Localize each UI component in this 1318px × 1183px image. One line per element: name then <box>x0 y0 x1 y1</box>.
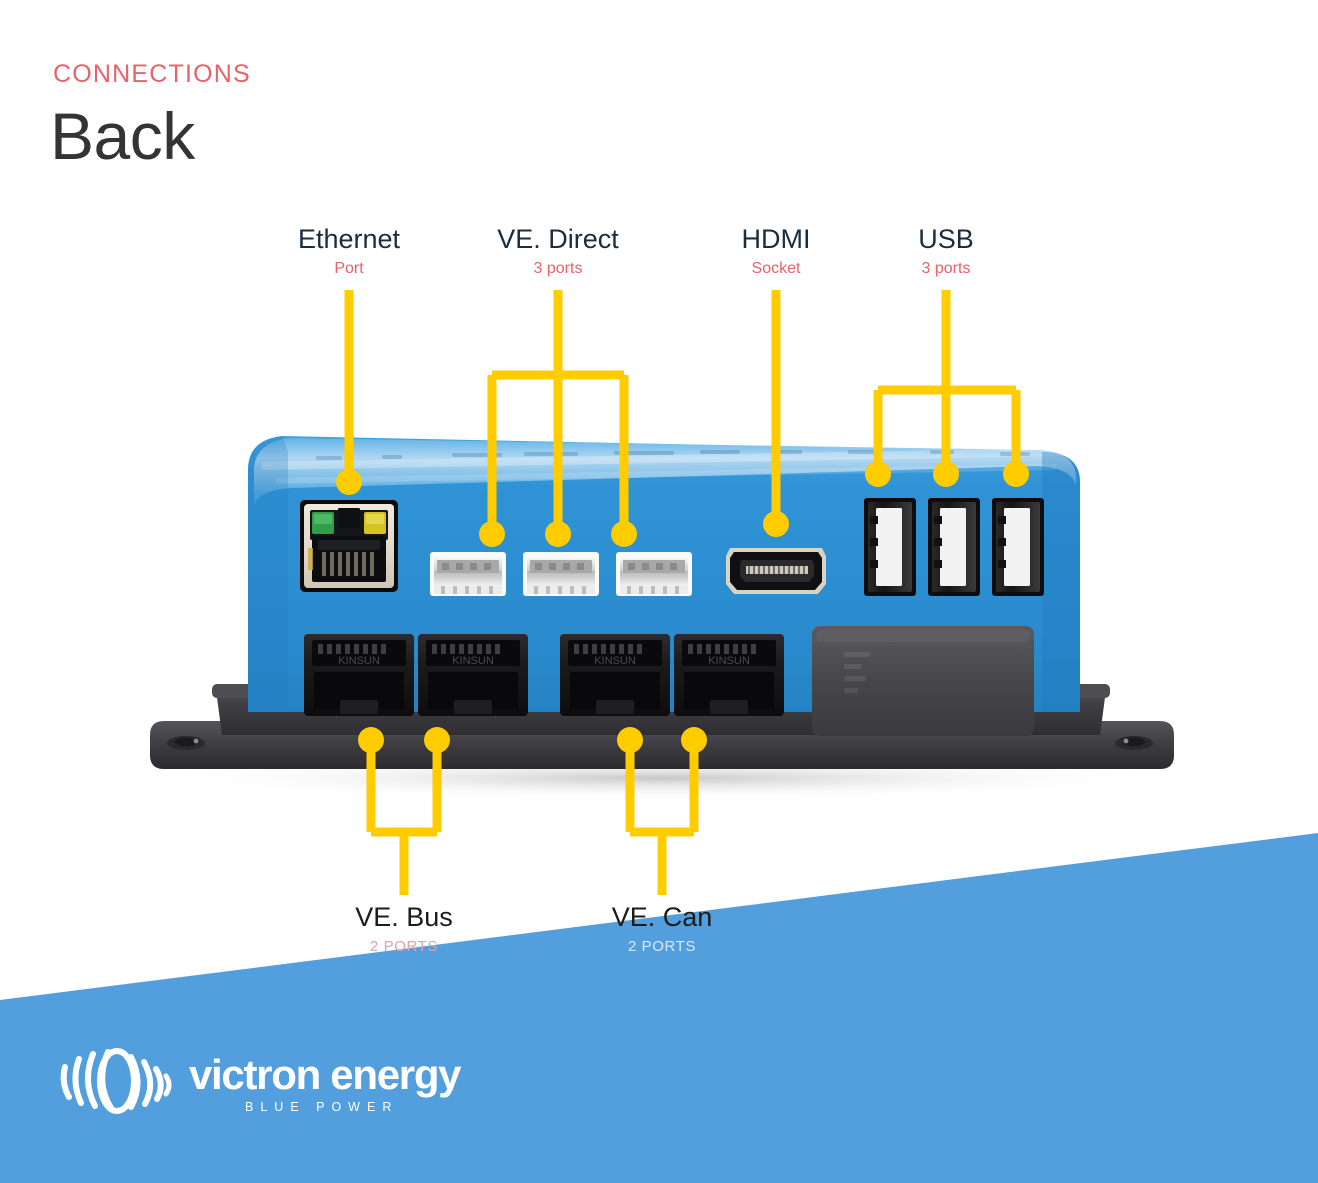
callout-ve-direct-title: VE. Direct <box>497 224 619 254</box>
leader-dot-usb-1 <box>865 461 891 487</box>
leader-dot-ve-direct-2 <box>545 521 571 547</box>
eyebrow-label: CONNECTIONS <box>53 60 251 89</box>
callout-ve-bus-title: VE. Bus <box>355 902 453 932</box>
victron-wordmark: victron energy <box>189 1054 460 1096</box>
callout-usb-subtitle: 3 ports <box>918 260 974 278</box>
leader-dot-hdmi <box>763 511 789 537</box>
leader-dot-ethernet <box>336 469 362 495</box>
leader-dot-ve-direct-1 <box>479 521 505 547</box>
callout-ethernet: Ethernet Port <box>298 224 400 278</box>
victron-swirl-icon <box>55 1045 175 1123</box>
leader-dot-ve-bus-1 <box>358 727 384 753</box>
callout-leader-lines <box>0 0 1318 1183</box>
callout-ve-can-subtitle: 2 PORTS <box>612 938 713 955</box>
leader-dot-usb-3 <box>1003 461 1029 487</box>
victron-logo: victron energy BLUE POWER <box>55 1045 460 1123</box>
leader-dot-ve-bus-2 <box>424 727 450 753</box>
callout-ethernet-subtitle: Port <box>298 260 400 278</box>
callout-ve-bus: VE. Bus 2 PORTS <box>355 902 453 955</box>
callout-usb-title: USB <box>918 224 974 254</box>
leader-dot-ve-can-1 <box>617 727 643 753</box>
callout-ve-can-title: VE. Can <box>612 902 713 932</box>
leader-dot-usb-2 <box>933 461 959 487</box>
callout-hdmi: HDMI Socket <box>742 224 811 278</box>
callout-hdmi-title: HDMI <box>742 224 811 254</box>
leader-dot-ve-can-2 <box>681 727 707 753</box>
victron-tagline: BLUE POWER <box>245 1100 460 1114</box>
callout-hdmi-subtitle: Socket <box>742 260 811 278</box>
callout-ve-bus-subtitle: 2 PORTS <box>355 938 453 955</box>
callout-ethernet-title: Ethernet <box>298 224 400 254</box>
callout-ve-can: VE. Can 2 PORTS <box>612 902 713 955</box>
page-title: Back <box>50 98 195 174</box>
callout-ve-direct: VE. Direct 3 ports <box>497 224 619 278</box>
leader-dot-ve-direct-3 <box>611 521 637 547</box>
callout-ve-direct-subtitle: 3 ports <box>497 260 619 278</box>
callout-usb: USB 3 ports <box>918 224 974 278</box>
